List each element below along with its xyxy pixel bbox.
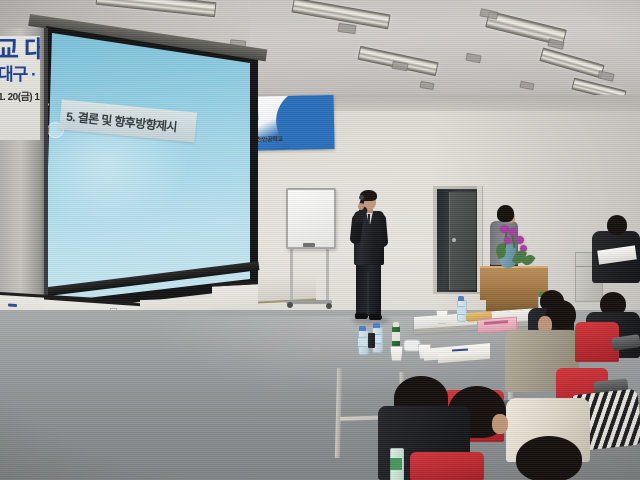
bottle-cap (373, 323, 380, 328)
attendee-foreground (516, 436, 582, 480)
presenter-shoe (369, 314, 382, 320)
bottle-label (392, 332, 400, 341)
bottle-label (358, 337, 367, 347)
presenter-hand (358, 203, 364, 210)
bottle-cap (458, 296, 464, 301)
microphone-head (359, 195, 364, 200)
attendee-head (607, 215, 627, 235)
whiteboard-post (290, 243, 293, 303)
bottle-label (390, 458, 402, 470)
projection-screen (44, 33, 250, 303)
pillar-edge-shadow (44, 28, 48, 328)
napkin (404, 340, 420, 351)
orchid-flower (515, 236, 524, 244)
wood-cabinet (480, 266, 548, 300)
whiteboard-post (326, 244, 329, 304)
orchid-flower (500, 225, 509, 233)
bottle-cap (359, 326, 366, 331)
whiteboard-panel (286, 188, 336, 249)
radiator-badge (8, 303, 17, 307)
auditorium-chair[interactable] (410, 452, 484, 480)
presenter-shoe (355, 313, 368, 319)
photo-scene: 표회 표회 구대학교 천안공학교 5. 결론 및 향후방향제시 교 대 대구 ·… (0, 0, 640, 480)
orchid-flower (504, 237, 511, 244)
bottle-cap (393, 322, 399, 327)
orchid-flower (509, 228, 517, 236)
wall-poster: 교 대 대구 · 1. 20(금) 1 (0, 36, 40, 140)
dark-can (368, 333, 375, 348)
poster-line-2: 대구 · (0, 66, 40, 84)
whiteboard-marker-tray (303, 243, 315, 247)
poster-line-3: 1. 20(금) 1 (0, 92, 40, 103)
whiteboard-caster (287, 302, 293, 308)
poster-line-1: 교 대 (0, 38, 40, 63)
whiteboard-caster (326, 303, 332, 309)
attendee-ear (492, 414, 508, 434)
attendee-hair (497, 205, 514, 222)
presenter-trouser-seam (367, 272, 369, 316)
paper-cup (436, 310, 448, 324)
door-knob[interactable] (452, 238, 456, 242)
paper-cup (390, 346, 403, 361)
baseboard-radiator (258, 272, 316, 303)
bottle-label (457, 306, 465, 315)
